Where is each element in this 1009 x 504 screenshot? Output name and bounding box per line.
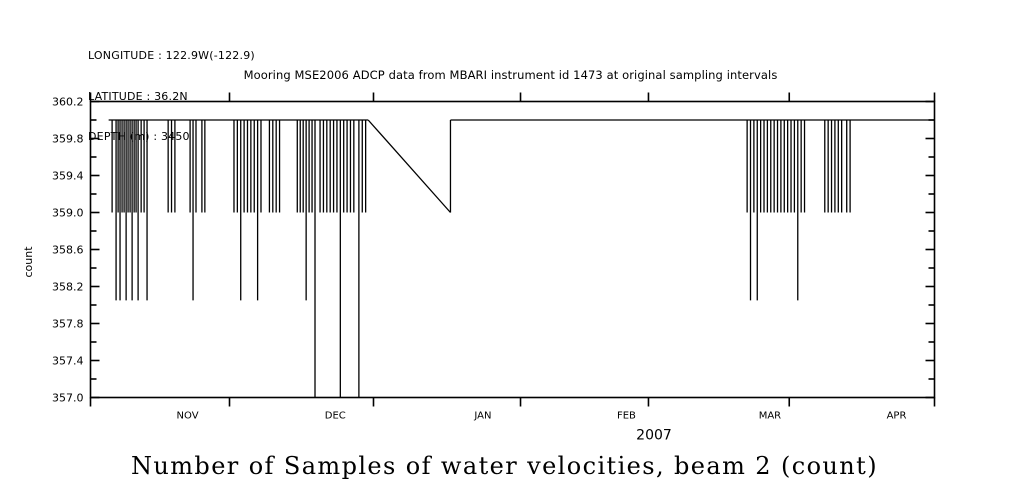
figure-caption: Number of Samples of water velocities, b…: [0, 452, 1009, 480]
y-tick-label: 359.8: [52, 133, 84, 146]
timeseries-chart: 360.2359.8359.4359.0358.6358.2357.8357.4…: [0, 0, 1009, 504]
y-axis-title: count: [22, 246, 35, 278]
x-tick-label: DEC: [325, 411, 346, 422]
x-tick-label: JAN: [473, 411, 491, 422]
y-tick-label: 359.4: [52, 170, 84, 183]
y-tick-label: 358.6: [52, 244, 84, 257]
x-axis-year-label: 2007: [636, 428, 672, 444]
y-tick-label: 360.2: [52, 96, 84, 109]
x-tick-label: APR: [887, 411, 907, 422]
x-tick-label: FEB: [617, 411, 636, 422]
data-series-count: [109, 120, 935, 398]
series-decline-segment: [368, 120, 450, 213]
x-tick-label: MAR: [759, 411, 781, 422]
figure-page: LONGITUDE : 122.9W(-122.9) LATITUDE : 36…: [0, 0, 1009, 504]
y-tick-label: 358.2: [52, 281, 84, 294]
y-tick-label: 357.8: [52, 318, 84, 331]
plot-frame: [91, 102, 935, 398]
x-tick-label: NOV: [177, 411, 199, 422]
y-tick-label: 357.4: [52, 355, 84, 368]
y-tick-label: 357.0: [52, 392, 84, 405]
y-tick-label: 359.0: [52, 207, 84, 220]
